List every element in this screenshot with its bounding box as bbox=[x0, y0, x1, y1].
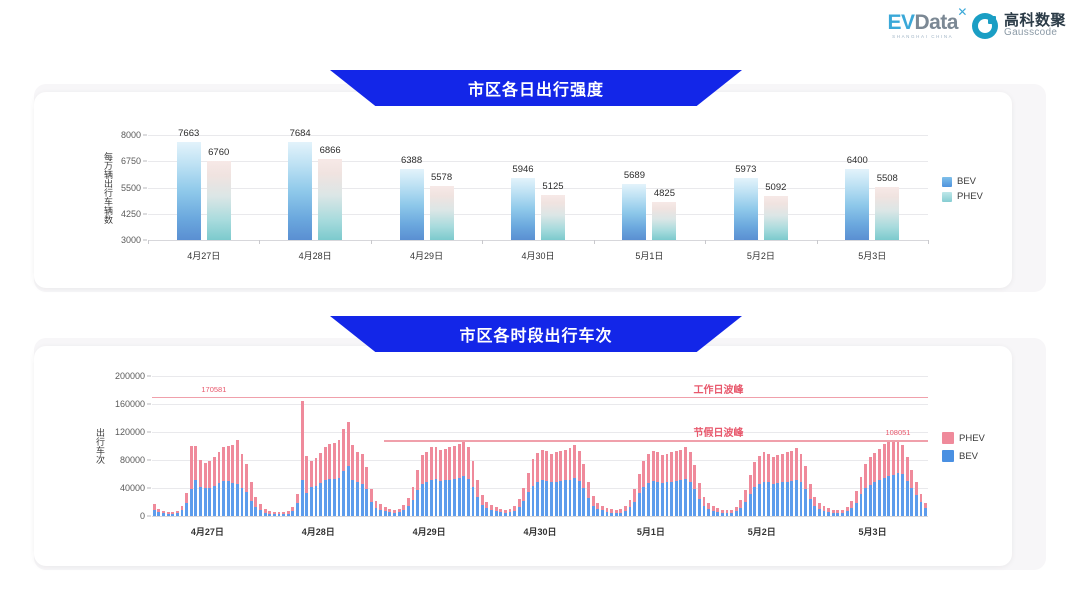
chart2-segment-bev bbox=[435, 479, 438, 516]
chart2-stacked-bar[interactable] bbox=[712, 506, 715, 516]
chart2-stacked-bar[interactable] bbox=[758, 456, 761, 516]
chart1-bar-bev[interactable]: 7663 bbox=[177, 142, 201, 240]
chart2-stacked-bar[interactable] bbox=[564, 450, 567, 517]
chart2-segment-phev bbox=[218, 452, 221, 483]
chart2-stacked-bar[interactable] bbox=[698, 483, 701, 516]
chart2-stacked-bar[interactable] bbox=[684, 447, 687, 516]
chart2-stacked-bar[interactable] bbox=[301, 401, 304, 516]
chart2-stacked-bar[interactable] bbox=[356, 452, 359, 516]
chart2-stacked-bar[interactable] bbox=[448, 447, 451, 516]
chart2-segment-bev bbox=[675, 481, 678, 516]
chart2-stacked-bar[interactable] bbox=[185, 493, 188, 516]
chart2-stacked-bar[interactable] bbox=[222, 447, 225, 516]
chart2-segment-bev bbox=[906, 481, 909, 516]
chart2-segment-phev bbox=[319, 453, 322, 483]
chart2-y-tick-mark bbox=[147, 404, 151, 405]
chart2-stacked-bar[interactable] bbox=[268, 511, 271, 516]
chart2-stacked-bar[interactable] bbox=[883, 444, 886, 516]
chart2-stacked-bar[interactable] bbox=[776, 455, 779, 516]
chart1-x-tick-mark bbox=[371, 240, 372, 244]
chart2-stacked-bar[interactable] bbox=[347, 422, 350, 516]
chart2-stacked-bar[interactable] bbox=[818, 503, 821, 516]
chart2-y-tick-label: 120000 bbox=[115, 427, 145, 437]
chart2-stacked-bar[interactable] bbox=[167, 512, 170, 516]
chart2-stacked-bar[interactable] bbox=[513, 506, 516, 516]
chart1-bar-value-label: 6400 bbox=[847, 155, 868, 166]
chart1-y-tick-label: 6750 bbox=[121, 156, 141, 166]
chart2-stacked-bar[interactable] bbox=[315, 458, 318, 516]
legend-swatch-phev-icon bbox=[942, 192, 952, 202]
chart2-segment-phev bbox=[421, 455, 424, 484]
chart2-segment-bev bbox=[231, 483, 234, 516]
chart2-stacked-bar[interactable] bbox=[652, 451, 655, 516]
chart2-stacked-bar[interactable] bbox=[897, 440, 900, 516]
chart1-y-tick-label: 5500 bbox=[121, 183, 141, 193]
chart2-segment-phev bbox=[361, 454, 364, 483]
chart2-segment-bev bbox=[827, 512, 830, 516]
chart2-stacked-bar[interactable] bbox=[328, 444, 331, 516]
chart2-stacked-bar[interactable] bbox=[439, 450, 442, 516]
chart2-stacked-bar[interactable] bbox=[716, 508, 719, 516]
chart2-stacked-bar[interactable] bbox=[675, 451, 678, 516]
chart2-stacked-bar[interactable] bbox=[287, 511, 290, 516]
gausscode-mark-icon bbox=[972, 13, 998, 39]
chart2-stacked-bar[interactable] bbox=[402, 505, 405, 516]
chart2-stacked-bar[interactable] bbox=[615, 510, 618, 516]
chart2-stacked-bar[interactable] bbox=[162, 511, 165, 516]
chart2-stacked-bar[interactable] bbox=[213, 457, 216, 516]
chart2-stacked-bar[interactable] bbox=[624, 506, 627, 516]
chart2-stacked-bar[interactable] bbox=[181, 506, 184, 516]
chart2-segment-bev bbox=[328, 479, 331, 516]
chart2-stacked-bar[interactable] bbox=[823, 506, 826, 516]
chart1-gridline bbox=[148, 161, 928, 162]
chart2-annotation-label-holiday: 节假日波峰 bbox=[693, 424, 743, 439]
chart2-stacked-bar[interactable] bbox=[661, 455, 664, 516]
chart2-stacked-bar[interactable] bbox=[421, 455, 424, 516]
chart2-stacked-bar[interactable] bbox=[430, 447, 433, 516]
chart2-segment-phev bbox=[204, 463, 207, 488]
chart2-segment-phev bbox=[790, 451, 793, 481]
chart2-stacked-bar[interactable] bbox=[190, 446, 193, 516]
chart2-stacked-bar[interactable] bbox=[767, 454, 770, 516]
chart2-stacked-bar[interactable] bbox=[846, 507, 849, 516]
chart2-stacked-bar[interactable] bbox=[296, 494, 299, 516]
chart2-segment-bev bbox=[490, 510, 493, 516]
chart2-stacked-bar[interactable] bbox=[629, 500, 632, 516]
chart2-segment-phev bbox=[633, 489, 636, 502]
chart2-stacked-bar[interactable] bbox=[338, 440, 341, 516]
chart2-segment-bev bbox=[809, 499, 812, 516]
chart2-segment-phev bbox=[767, 454, 770, 483]
chart2-y-tick-mark bbox=[147, 488, 151, 489]
chart2-stacked-bar[interactable] bbox=[860, 477, 863, 516]
chart2-stacked-bar[interactable] bbox=[707, 503, 710, 516]
chart2-segment-phev bbox=[776, 455, 779, 483]
chart2-segment-phev bbox=[915, 482, 918, 495]
chart2-stacked-bar[interactable] bbox=[901, 445, 904, 516]
chart2-stacked-bar[interactable] bbox=[582, 464, 585, 517]
legend-swatch-phev-icon-2 bbox=[942, 432, 954, 444]
chart2-x-tick-label: 5月2日 bbox=[748, 525, 776, 538]
chart1-bar-bev[interactable]: 6400 bbox=[845, 169, 869, 240]
chart2-stacked-bar[interactable] bbox=[800, 454, 803, 516]
chart2-stacked-bar[interactable] bbox=[638, 474, 641, 516]
chart2-segment-phev bbox=[365, 467, 368, 489]
chart2-segment-phev bbox=[689, 452, 692, 481]
chart2-segment-phev bbox=[850, 501, 853, 508]
chart1-bar-phev[interactable]: 5125 bbox=[541, 195, 565, 240]
chart2-stacked-bar[interactable] bbox=[596, 503, 599, 516]
chart2-stacked-bar[interactable] bbox=[920, 494, 923, 516]
chart2-stacked-bar[interactable] bbox=[504, 510, 507, 516]
daily-trip-intensity-chart: 每万辆出行车辆数30004250550067508000766367604月27… bbox=[148, 135, 928, 240]
chart2-segment-bev bbox=[204, 488, 207, 516]
chart2-stacked-bar[interactable] bbox=[208, 461, 211, 516]
chart2-segment-phev bbox=[698, 483, 701, 498]
chart2-segment-bev bbox=[541, 480, 544, 516]
chart2-stacked-bar[interactable] bbox=[666, 454, 669, 516]
chart2-stacked-bar[interactable] bbox=[892, 440, 895, 516]
chart2-segment-bev bbox=[813, 506, 816, 516]
legend-item-phev[interactable]: PHEV bbox=[942, 191, 983, 202]
chart2-stacked-bar[interactable] bbox=[236, 440, 239, 516]
chart1-bar-phev[interactable]: 6866 bbox=[318, 159, 342, 240]
chart2-segment-bev bbox=[218, 483, 221, 516]
chart1-x-tick-label: 5月3日 bbox=[858, 249, 886, 262]
chart2-stacked-bar[interactable] bbox=[744, 490, 747, 516]
chart2-segment-phev bbox=[467, 447, 470, 479]
chart2-stacked-bar[interactable] bbox=[633, 489, 636, 516]
chart2-stacked-bar[interactable] bbox=[730, 510, 733, 516]
chart2-stacked-bar[interactable] bbox=[157, 509, 160, 516]
chart2-stacked-bar[interactable] bbox=[878, 449, 881, 516]
chart2-stacked-bar[interactable] bbox=[375, 501, 378, 516]
chart2-segment-phev bbox=[753, 462, 756, 487]
panel-title-banner-2: 市区各时段出行车次 bbox=[330, 316, 742, 352]
chart2-segment-bev bbox=[227, 481, 230, 516]
chart2-segment-phev bbox=[518, 499, 521, 507]
chart2-segment-bev bbox=[652, 481, 655, 516]
chart2-y-tick-label: 40000 bbox=[120, 483, 145, 493]
chart1-bar-phev[interactable]: 4825 bbox=[652, 202, 676, 240]
chart1-bar-phev[interactable]: 5092 bbox=[764, 196, 788, 240]
chart2-stacked-bar[interactable] bbox=[915, 482, 918, 516]
chart2-stacked-bar[interactable] bbox=[753, 462, 756, 516]
chart2-segment-bev bbox=[338, 478, 341, 516]
chart2-segment-phev bbox=[864, 464, 867, 489]
chart2-stacked-bar[interactable] bbox=[518, 499, 521, 516]
legend-item-phev-2[interactable]: PHEV bbox=[942, 432, 985, 444]
chart1-bar-value-label: 5578 bbox=[431, 172, 452, 183]
chart2-segment-phev bbox=[222, 447, 225, 481]
chart2-stacked-bar[interactable] bbox=[499, 509, 502, 516]
chart2-stacked-bar[interactable] bbox=[425, 452, 428, 516]
chart2-segment-bev bbox=[892, 475, 895, 516]
chart1-gridline bbox=[148, 214, 928, 215]
chart2-stacked-bar[interactable] bbox=[495, 507, 498, 516]
chart2-stacked-bar[interactable] bbox=[606, 508, 609, 516]
chart2-segment-phev bbox=[550, 454, 553, 483]
chart2-stacked-bar[interactable] bbox=[790, 451, 793, 516]
chart2-segment-bev bbox=[504, 513, 507, 516]
chart2-segment-phev bbox=[647, 454, 650, 483]
chart2-stacked-bar[interactable] bbox=[509, 509, 512, 516]
chart2-stacked-bar[interactable] bbox=[264, 509, 267, 516]
chart2-segment-bev bbox=[836, 513, 839, 516]
chart2-segment-phev bbox=[439, 450, 442, 481]
chart2-annotation-line-holiday bbox=[384, 440, 928, 442]
chart2-segment-bev bbox=[273, 514, 276, 516]
chart2-stacked-bar[interactable] bbox=[850, 501, 853, 516]
chart2-stacked-bar[interactable] bbox=[472, 461, 475, 516]
chart2-stacked-bar[interactable] bbox=[772, 457, 775, 517]
chart2-segment-bev bbox=[642, 487, 645, 516]
chart2-stacked-bar[interactable] bbox=[656, 452, 659, 516]
chart2-stacked-bar[interactable] bbox=[836, 510, 839, 516]
chart2-stacked-bar[interactable] bbox=[199, 460, 202, 516]
chart2-segment-bev bbox=[333, 479, 336, 516]
chart2-stacked-bar[interactable] bbox=[522, 488, 525, 516]
chart1-bar-bev[interactable]: 5973 bbox=[734, 178, 758, 240]
chart2-segment-phev bbox=[887, 441, 890, 476]
chart2-stacked-bar[interactable] bbox=[153, 504, 156, 516]
chart2-segment-bev bbox=[181, 510, 184, 516]
chart2-stacked-bar[interactable] bbox=[887, 441, 890, 516]
chart1-bar-phev[interactable]: 5508 bbox=[875, 187, 899, 240]
chart2-segment-phev bbox=[231, 445, 234, 483]
chart2-stacked-bar[interactable] bbox=[259, 504, 262, 516]
chart2-stacked-bar[interactable] bbox=[342, 429, 345, 517]
chart2-stacked-bar[interactable] bbox=[481, 495, 484, 516]
chart2-segment-phev bbox=[315, 458, 318, 486]
chart2-stacked-bar[interactable] bbox=[458, 444, 461, 516]
chart1-bar-bev[interactable]: 5946 bbox=[511, 178, 535, 240]
chart2-segment-bev bbox=[462, 476, 465, 516]
chart2-segment-bev bbox=[268, 514, 271, 517]
chart2-stacked-bar[interactable] bbox=[855, 491, 858, 516]
chart2-stacked-bar[interactable] bbox=[559, 451, 562, 516]
chart2-stacked-bar[interactable] bbox=[545, 451, 548, 516]
chart2-stacked-bar[interactable] bbox=[324, 447, 327, 516]
chart2-stacked-bar[interactable] bbox=[485, 502, 488, 516]
chart2-segment-phev bbox=[906, 457, 909, 481]
chart2-stacked-bar[interactable] bbox=[291, 507, 294, 516]
chart2-stacked-bar[interactable] bbox=[739, 500, 742, 516]
chart2-stacked-bar[interactable] bbox=[171, 512, 174, 516]
chart2-segment-bev bbox=[832, 513, 835, 516]
chart2-stacked-bar[interactable] bbox=[841, 510, 844, 516]
hourly-trip-count-chart: 出行车次040000800001200001600002000004月27日4月… bbox=[152, 376, 928, 516]
chart1-bar-phev[interactable]: 5578 bbox=[430, 186, 454, 240]
chart2-segment-phev bbox=[693, 465, 696, 489]
chart2-segment-bev bbox=[619, 513, 622, 516]
chart2-segment-bev bbox=[319, 483, 322, 516]
chart2-stacked-bar[interactable] bbox=[305, 456, 308, 516]
chart2-stacked-bar[interactable] bbox=[693, 465, 696, 516]
chart2-stacked-bar[interactable] bbox=[541, 450, 544, 517]
chart2-segment-phev bbox=[435, 447, 438, 479]
chart2-stacked-bar[interactable] bbox=[319, 453, 322, 516]
chart2-stacked-bar[interactable] bbox=[282, 512, 285, 516]
chart2-stacked-bar[interactable] bbox=[444, 449, 447, 516]
chart2-stacked-bar[interactable] bbox=[462, 441, 465, 516]
chart1-bar-bev[interactable]: 7684 bbox=[288, 142, 312, 240]
chart2-stacked-bar[interactable] bbox=[407, 498, 410, 516]
chart2-stacked-bar[interactable] bbox=[569, 448, 572, 516]
chart2-segment-phev bbox=[347, 422, 350, 465]
chart1-x-tick-mark bbox=[817, 240, 818, 244]
chart2-stacked-bar[interactable] bbox=[310, 461, 313, 516]
chart2-stacked-bar[interactable] bbox=[241, 454, 244, 516]
chart2-segment-phev bbox=[250, 482, 253, 500]
chart2-segment-phev bbox=[772, 457, 775, 484]
chart2-stacked-bar[interactable] bbox=[781, 454, 784, 516]
chart2-stacked-bar[interactable] bbox=[278, 512, 281, 516]
chart2-y-axis-label: 出行车次 bbox=[94, 428, 107, 464]
chart2-stacked-bar[interactable] bbox=[670, 452, 673, 516]
chart2-segment-phev bbox=[472, 461, 475, 487]
chart2-segment-bev bbox=[684, 479, 687, 516]
chart2-stacked-bar[interactable] bbox=[619, 509, 622, 516]
chart2-stacked-bar[interactable] bbox=[910, 470, 913, 516]
chart2-stacked-bar[interactable] bbox=[536, 453, 539, 516]
chart2-stacked-bar[interactable] bbox=[721, 510, 724, 516]
chart2-stacked-bar[interactable] bbox=[384, 507, 387, 516]
chart2-stacked-bar[interactable] bbox=[642, 461, 645, 516]
chart1-x-tick-mark bbox=[482, 240, 483, 244]
panel-title-banner-1: 市区各日出行强度 bbox=[330, 70, 742, 106]
chart2-stacked-bar[interactable] bbox=[749, 475, 752, 516]
chart2-stacked-bar[interactable] bbox=[490, 505, 493, 516]
legend-item-bev[interactable]: BEV bbox=[942, 176, 983, 187]
chart2-segment-phev bbox=[342, 429, 345, 472]
chart1-bar-phev[interactable]: 6760 bbox=[207, 161, 231, 240]
chart2-stacked-bar[interactable] bbox=[361, 454, 364, 516]
chart2-stacked-bar[interactable] bbox=[379, 504, 382, 516]
evdata-x-icon: ✕ bbox=[957, 6, 967, 18]
chart2-segment-phev bbox=[208, 461, 211, 488]
chart2-segment-phev bbox=[675, 451, 678, 481]
chart2-stacked-bar[interactable] bbox=[864, 464, 867, 517]
chart2-segment-phev bbox=[878, 449, 881, 481]
chart1-x-tick-label: 4月30日 bbox=[521, 249, 554, 262]
chart2-stacked-bar[interactable] bbox=[388, 509, 391, 516]
legend-item-bev-2[interactable]: BEV bbox=[942, 450, 985, 462]
chart2-segment-phev bbox=[213, 457, 216, 486]
chart2-stacked-bar[interactable] bbox=[333, 443, 336, 517]
chart2-stacked-bar[interactable] bbox=[827, 508, 830, 516]
chart2-stacked-bar[interactable] bbox=[416, 470, 419, 516]
chart2-segment-bev bbox=[592, 506, 595, 516]
chart2-stacked-bar[interactable] bbox=[873, 453, 876, 516]
chart2-segment-bev bbox=[439, 481, 442, 516]
chart2-stacked-bar[interactable] bbox=[906, 457, 909, 516]
chart2-stacked-bar[interactable] bbox=[578, 451, 581, 516]
chart2-segment-bev bbox=[726, 513, 729, 516]
chart2-stacked-bar[interactable] bbox=[254, 497, 257, 516]
chart2-stacked-bar[interactable] bbox=[832, 510, 835, 516]
chart2-stacked-bar[interactable] bbox=[679, 450, 682, 517]
chart2-segment-bev bbox=[342, 471, 345, 516]
chart2-segment-phev bbox=[901, 445, 904, 474]
chart2-annotation-line-weekday bbox=[152, 397, 928, 399]
chart2-segment-bev bbox=[472, 487, 475, 516]
chart2-segment-bev bbox=[781, 482, 784, 516]
chart2-segment-bev bbox=[250, 501, 253, 516]
chart2-stacked-bar[interactable] bbox=[250, 482, 253, 516]
chart2-stacked-bar[interactable] bbox=[231, 445, 234, 516]
chart1-bar-bev[interactable]: 5689 bbox=[622, 184, 646, 240]
chart2-segment-phev bbox=[739, 500, 742, 508]
legend-label-phev-2: PHEV bbox=[959, 433, 985, 444]
chart2-segment-bev bbox=[208, 488, 211, 516]
chart2-stacked-bar[interactable] bbox=[176, 511, 179, 516]
chart2-stacked-bar[interactable] bbox=[763, 452, 766, 516]
chart2-segment-bev bbox=[578, 481, 581, 516]
chart2-stacked-bar[interactable] bbox=[393, 510, 396, 516]
chart2-stacked-bar[interactable] bbox=[550, 454, 553, 516]
chart1-bar-bev[interactable]: 6388 bbox=[400, 169, 424, 240]
chart2-stacked-bar[interactable] bbox=[647, 454, 650, 516]
chart2-stacked-bar[interactable] bbox=[726, 510, 729, 516]
chart2-stacked-bar[interactable] bbox=[245, 464, 248, 516]
chart1-x-tick-mark bbox=[259, 240, 260, 244]
chart2-stacked-bar[interactable] bbox=[227, 446, 230, 516]
chart2-stacked-bar[interactable] bbox=[813, 497, 816, 516]
chart2-stacked-bar[interactable] bbox=[194, 446, 197, 516]
chart2-stacked-bar[interactable] bbox=[735, 507, 738, 516]
chart2-stacked-bar[interactable] bbox=[610, 509, 613, 516]
chart2-stacked-bar[interactable] bbox=[476, 480, 479, 516]
chart2-stacked-bar[interactable] bbox=[398, 509, 401, 516]
chart2-segment-bev bbox=[370, 502, 373, 516]
chart2-stacked-bar[interactable] bbox=[435, 447, 438, 516]
chart2-stacked-bar[interactable] bbox=[370, 489, 373, 516]
chart2-stacked-bar[interactable] bbox=[689, 452, 692, 516]
chart2-segment-bev bbox=[495, 511, 498, 516]
chart2-stacked-bar[interactable] bbox=[795, 448, 798, 516]
chart2-stacked-bar[interactable] bbox=[804, 466, 807, 516]
chart2-stacked-bar[interactable] bbox=[924, 503, 927, 516]
chart2-stacked-bar[interactable] bbox=[467, 447, 470, 516]
chart2-segment-bev bbox=[213, 486, 216, 516]
chart2-stacked-bar[interactable] bbox=[365, 467, 368, 516]
chart2-stacked-bar[interactable] bbox=[555, 452, 558, 516]
chart2-stacked-bar[interactable] bbox=[412, 487, 415, 516]
chart2-stacked-bar[interactable] bbox=[204, 463, 207, 516]
chart2-stacked-bar[interactable] bbox=[351, 445, 354, 516]
chart2-segment-bev bbox=[194, 480, 197, 516]
chart2-stacked-bar[interactable] bbox=[273, 512, 276, 516]
chart2-stacked-bar[interactable] bbox=[703, 497, 706, 516]
chart2-stacked-bar[interactable] bbox=[587, 482, 590, 516]
chart2-stacked-bar[interactable] bbox=[869, 457, 872, 516]
chart2-stacked-bar[interactable] bbox=[527, 473, 530, 516]
chart2-stacked-bar[interactable] bbox=[601, 506, 604, 517]
chart2-segment-bev bbox=[679, 480, 682, 516]
chart2-stacked-bar[interactable] bbox=[453, 446, 456, 516]
chart2-segment-bev bbox=[666, 482, 669, 516]
chart2-stacked-bar[interactable] bbox=[809, 484, 812, 516]
chart2-stacked-bar[interactable] bbox=[218, 452, 221, 516]
chart2-stacked-bar[interactable] bbox=[532, 459, 535, 516]
chart2-segment-bev bbox=[458, 478, 461, 516]
chart2-stacked-bar[interactable] bbox=[786, 452, 789, 516]
chart2-stacked-bar[interactable] bbox=[573, 445, 576, 516]
chart2-segment-bev bbox=[536, 482, 539, 516]
chart2-stacked-bar[interactable] bbox=[592, 496, 595, 516]
